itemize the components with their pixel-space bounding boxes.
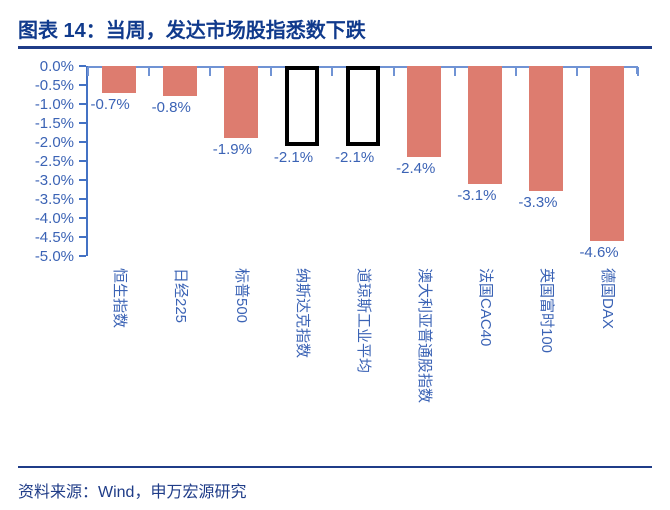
y-axis-tick-mark [79, 255, 86, 257]
category-label: 法国CAC40 [478, 268, 493, 346]
data-label: -3.3% [518, 195, 557, 210]
bar-1[interactable] [102, 66, 136, 93]
source-note: 资料来源：Wind，申万宏源研究 [18, 478, 246, 502]
chart-plot-area: 0.0%-0.5%-1.0%-1.5%-2.0%-2.5%-3.0%-3.5%-… [0, 55, 670, 455]
y-axis-tick-label: -1.0% [12, 97, 74, 112]
y-axis-tick-mark [79, 122, 86, 124]
page-title: 图表 14：当周，发达市场股指悉数下跌 [18, 14, 366, 43]
bar-7[interactable] [468, 66, 502, 184]
y-axis-tick-mark [79, 84, 86, 86]
category-label: 纳斯达克指数 [295, 268, 310, 358]
data-label: -2.1% [335, 150, 374, 165]
x-axis-tick-mark [148, 67, 150, 76]
data-label: -2.1% [274, 150, 313, 165]
category-label: 日经225 [173, 268, 188, 323]
data-label: -1.9% [213, 142, 252, 157]
y-axis-line [86, 66, 88, 256]
y-axis-tick-mark [79, 103, 86, 105]
bar-9[interactable] [590, 66, 624, 241]
y-axis-tick-mark [79, 141, 86, 143]
y-axis-tick-label: -3.0% [12, 173, 74, 188]
bar-5[interactable] [346, 66, 380, 146]
y-axis-tick-mark [79, 217, 86, 219]
x-axis-tick-mark [270, 67, 272, 76]
data-label: -0.7% [91, 97, 130, 112]
title-divider [18, 46, 652, 49]
category-label: 英国富时100 [539, 268, 554, 353]
x-axis-tick-mark [515, 67, 517, 76]
bar-3[interactable] [224, 66, 258, 138]
bar-8[interactable] [529, 66, 563, 191]
category-label: 标普500 [234, 268, 249, 323]
footer-divider [18, 466, 652, 468]
y-axis-tick-mark [79, 198, 86, 200]
x-axis-tick-mark [87, 67, 89, 76]
data-label: -0.8% [152, 100, 191, 115]
y-axis-tick-mark [79, 179, 86, 181]
category-label: 道琼斯工业平均 [356, 268, 371, 373]
y-axis-tick-label: -4.0% [12, 211, 74, 226]
y-axis-tick-label: -4.5% [12, 230, 74, 245]
y-axis-tick-mark [79, 65, 86, 67]
x-axis-tick-mark [454, 67, 456, 76]
x-axis-tick-mark [393, 67, 395, 76]
x-axis-tick-mark [637, 67, 639, 76]
y-axis-tick-mark [79, 236, 86, 238]
category-label: 德国DAX [600, 268, 615, 329]
category-label: 恒生指数 [112, 268, 127, 328]
y-axis-tick-label: 0.0% [12, 59, 74, 74]
y-axis-tick-label: -5.0% [12, 249, 74, 264]
y-axis-tick-label: -0.5% [12, 78, 74, 93]
data-label: -3.1% [457, 188, 496, 203]
y-axis-tick-mark [79, 160, 86, 162]
data-label: -4.6% [579, 245, 618, 260]
x-axis-tick-mark [209, 67, 211, 76]
data-label: -2.4% [396, 161, 435, 176]
y-axis-tick-label: -2.0% [12, 135, 74, 150]
bar-2[interactable] [163, 66, 197, 96]
bar-6[interactable] [407, 66, 441, 157]
x-axis-tick-mark [576, 67, 578, 76]
y-axis-tick-label: -2.5% [12, 154, 74, 169]
y-axis-tick-label: -3.5% [12, 192, 74, 207]
x-axis-tick-mark [331, 67, 333, 76]
category-label: 澳大利亚普通股指数 [417, 268, 432, 403]
bar-4[interactable] [285, 66, 319, 146]
y-axis-tick-label: -1.5% [12, 116, 74, 131]
